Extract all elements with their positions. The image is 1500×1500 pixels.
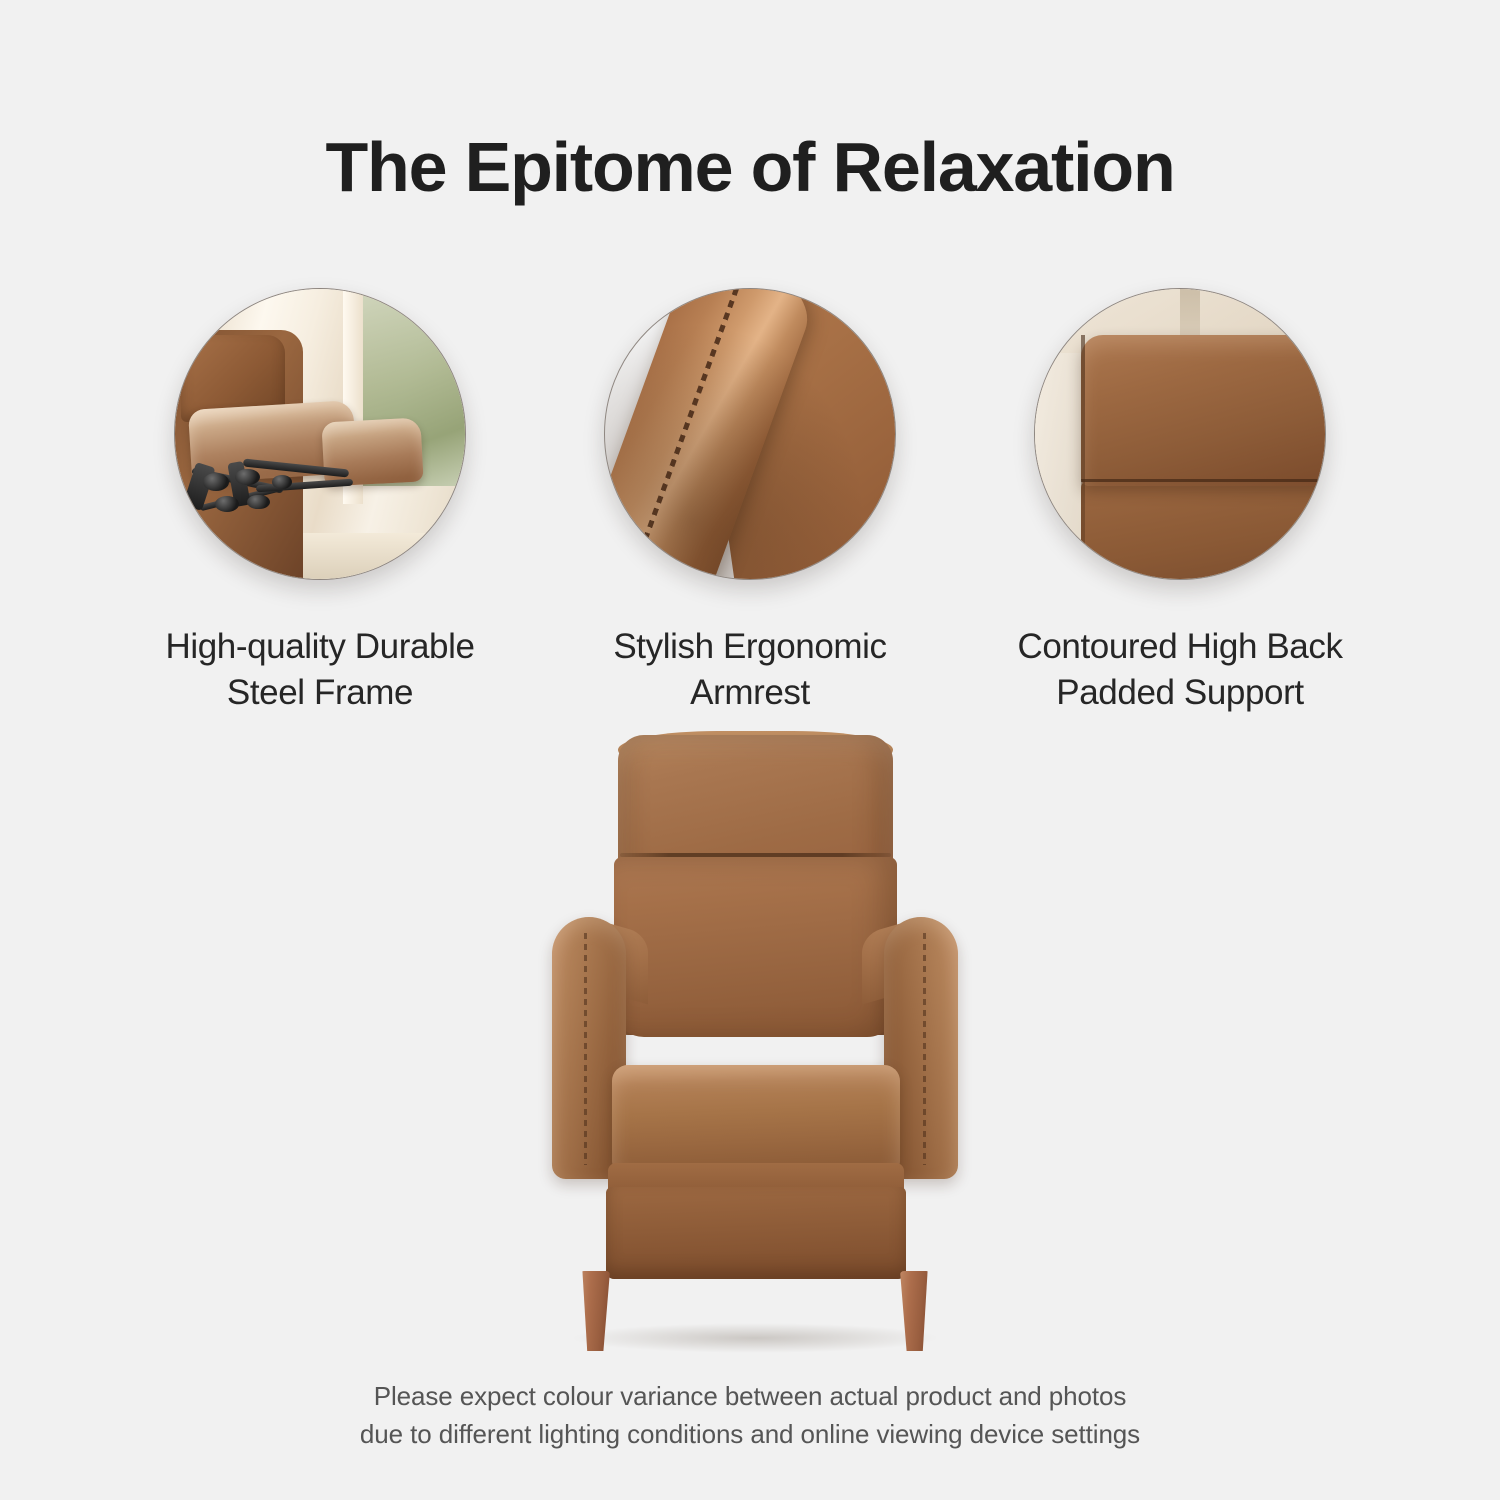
steel-frame-detail-photo: [174, 288, 466, 580]
page-title: The Epitome of Relaxation: [0, 132, 1500, 202]
feature-item-steel-frame: High-quality Durable Steel Frame: [120, 288, 520, 716]
disclaimer-line-1: Please expect colour variance between ac…: [0, 1378, 1500, 1416]
caption-line-2: Steel Frame: [165, 670, 474, 716]
seat-cushion: [612, 1065, 900, 1171]
back-side-edge: [1081, 335, 1085, 580]
floor-shadow: [570, 1323, 940, 1353]
back-top-cushion: [1081, 335, 1326, 486]
caption-line-2: Armrest: [613, 670, 886, 716]
leather-shading: [605, 289, 895, 579]
right-arm-stitching: [923, 933, 926, 1165]
back-lower-panel: [1081, 480, 1326, 580]
high-back-image-wrap: [1034, 288, 1326, 580]
caption-line-1: Contoured High Back: [1017, 624, 1342, 670]
back-seam: [620, 853, 891, 857]
steel-frame-image-wrap: [174, 288, 466, 580]
feature-list: High-quality Durable Steel Frame Stylish…: [120, 288, 1380, 716]
left-arm-stitching: [584, 933, 587, 1165]
caption-line-1: High-quality Durable: [165, 624, 474, 670]
steel-mechanism: [187, 457, 390, 538]
armrest-image-wrap: [604, 288, 896, 580]
colour-variance-disclaimer: Please expect colour variance between ac…: [0, 1378, 1500, 1454]
feature-caption-steel-frame: High-quality Durable Steel Frame: [165, 624, 474, 716]
feature-item-armrest: Stylish Ergonomic Armrest: [550, 288, 950, 716]
baseboard: [297, 533, 465, 579]
back-lower-cushion: [614, 857, 897, 1037]
feature-caption-armrest: Stylish Ergonomic Armrest: [613, 624, 886, 716]
armrest-detail-photo: [604, 288, 896, 580]
caption-line-2: Padded Support: [1017, 670, 1342, 716]
brown-leather-recliner-armchair: [540, 735, 970, 1355]
high-back-detail-photo: [1034, 288, 1326, 580]
caption-line-1: Stylish Ergonomic: [613, 624, 886, 670]
back-horizontal-seam: [1081, 479, 1326, 482]
feature-caption-high-back: Contoured High Back Padded Support: [1017, 624, 1342, 716]
disclaimer-line-2: due to different lighting conditions and…: [0, 1416, 1500, 1454]
chair-base: [606, 1187, 906, 1279]
feature-item-high-back: Contoured High Back Padded Support: [980, 288, 1380, 716]
